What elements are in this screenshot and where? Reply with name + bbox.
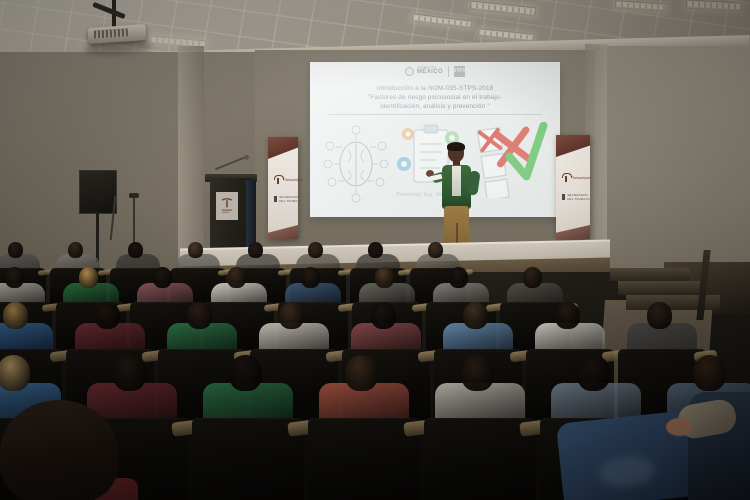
attendee-head bbox=[8, 242, 23, 258]
banner-left: Tamaulipas SECRETARÍA DEL TRABAJO bbox=[268, 137, 298, 239]
banner-bottom-graphic bbox=[268, 225, 298, 239]
attendee-head bbox=[279, 302, 304, 329]
podium-logo-plaque bbox=[216, 192, 238, 220]
jeans-highlight bbox=[598, 454, 657, 490]
slide-title: Introducción a la NOM-035-STPS-2018 "Fac… bbox=[324, 84, 546, 111]
banner-top-graphic bbox=[556, 135, 590, 157]
banner-sub-mark: SECRETARÍA DEL TRABAJO bbox=[562, 193, 591, 201]
attendee-head bbox=[5, 267, 24, 288]
attendee-hair bbox=[0, 400, 118, 500]
checkmark-cross-icon bbox=[476, 122, 552, 198]
attendee-head bbox=[229, 355, 262, 391]
banner-sub-text: SECRETARÍA DEL TRABAJO bbox=[567, 193, 591, 201]
banner-brand-text: Tamaulipas bbox=[572, 176, 591, 180]
agency-square-icon bbox=[274, 196, 277, 202]
attendee-head bbox=[368, 242, 383, 258]
attendee-head bbox=[227, 267, 246, 288]
attendee-head bbox=[345, 355, 378, 391]
stair-step bbox=[626, 295, 720, 310]
attendee-head bbox=[113, 355, 146, 391]
slide-title-line-1: Introducción a la NOM-035-STPS-2018 bbox=[324, 84, 546, 93]
attendee-head bbox=[128, 242, 143, 258]
attendee-head bbox=[461, 355, 494, 391]
attendee-head bbox=[95, 302, 120, 329]
stair-step bbox=[618, 281, 704, 295]
speaker-stand bbox=[96, 212, 99, 262]
gob-big-text: MÉXICO bbox=[417, 69, 443, 75]
attendee-head bbox=[555, 302, 580, 329]
attendee-head bbox=[647, 302, 672, 329]
agency-square-icon bbox=[562, 194, 565, 200]
foreground-attendee-left bbox=[0, 400, 150, 500]
attendee-head bbox=[693, 355, 726, 391]
attendee-head bbox=[153, 267, 172, 288]
slide-title-rule bbox=[328, 114, 542, 115]
attendee-head bbox=[3, 302, 28, 329]
tamaulipas-logo-icon bbox=[562, 173, 570, 182]
attendee-hand bbox=[666, 418, 692, 436]
attendee-head bbox=[308, 242, 323, 258]
auditorium-scene: GOBIERNO DE MÉXICO STPS Introducción a l… bbox=[0, 0, 750, 500]
stair-step bbox=[610, 268, 690, 281]
attendee-head bbox=[428, 242, 443, 258]
gobierno-de-mexico-logo: GOBIERNO DE MÉXICO bbox=[405, 67, 443, 76]
slide-title-line-2: "Factores de riesgo psicosocial en el tr… bbox=[324, 93, 546, 102]
banner-top-graphic bbox=[268, 137, 298, 159]
tamaulipas-logo-icon bbox=[219, 195, 235, 217]
microphone-stand bbox=[133, 196, 135, 246]
presenter-shirt bbox=[452, 166, 461, 196]
attendee-head bbox=[188, 242, 203, 258]
banner-brand-mark: Tamaulipas bbox=[562, 173, 591, 182]
banner-brand-text: Tamaulipas bbox=[284, 178, 303, 182]
logo-divider bbox=[448, 66, 449, 77]
stps-logo: STPS bbox=[454, 66, 465, 77]
attendee-head bbox=[187, 302, 212, 329]
banner-sub-mark: SECRETARÍA DEL TRABAJO bbox=[274, 195, 303, 203]
tamaulipas-logo-icon bbox=[274, 175, 282, 184]
attendee-head bbox=[79, 267, 98, 288]
slide-title-line-3: identificación, análisis y prevención " bbox=[324, 102, 546, 111]
national-seal-icon bbox=[405, 67, 414, 76]
banner-bottom-graphic bbox=[556, 225, 590, 239]
presenter-right-arm bbox=[466, 170, 480, 195]
attendee-head bbox=[463, 302, 488, 329]
attendee-head bbox=[0, 355, 30, 391]
foreground-attendee-right bbox=[560, 392, 750, 500]
banner-right: Tamaulipas SECRETARÍA DEL TRABAJO bbox=[556, 135, 590, 239]
attendee-head bbox=[577, 355, 610, 391]
presenter-hair bbox=[447, 142, 465, 151]
attendee-head bbox=[371, 302, 396, 329]
slide-header: GOBIERNO DE MÉXICO STPS bbox=[310, 62, 560, 80]
attendee-head bbox=[248, 242, 263, 258]
attendee-head bbox=[301, 267, 320, 288]
attendee-head bbox=[68, 242, 83, 258]
banner-sub-text: SECRETARÍA DEL TRABAJO bbox=[279, 195, 303, 203]
attendee-head bbox=[449, 267, 468, 288]
banner-brand-mark: Tamaulipas bbox=[274, 175, 303, 184]
attendee-head bbox=[523, 267, 542, 288]
wall-speaker bbox=[79, 170, 117, 214]
attendee-head bbox=[375, 267, 394, 288]
